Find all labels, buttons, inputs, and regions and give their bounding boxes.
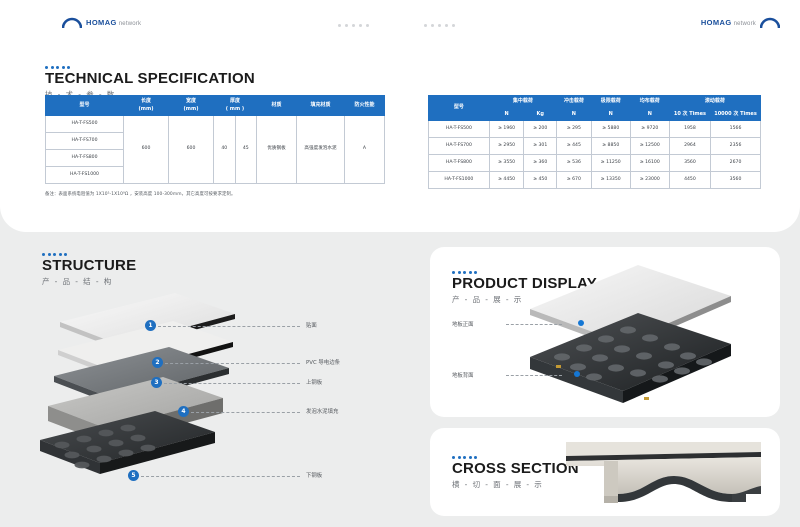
cell-value: ≥ 2950: [489, 138, 524, 155]
structure-label-3: 上钢板: [306, 378, 322, 386]
title-dots-icon: [45, 66, 255, 69]
product-display-leader-back: [506, 375, 562, 376]
callout-5: 5: [128, 470, 139, 481]
callout-4: 4: [178, 406, 189, 417]
header-dots-group-2: [424, 24, 455, 27]
structure-label-2: PVC 导电边条: [306, 358, 340, 366]
cell-value: ≥ 23000: [630, 172, 669, 189]
spec-table-right: 型号 集中载荷 冲击载荷 极限载荷 均布载荷 滚动载荷 N Kg N N N 1…: [428, 95, 761, 189]
cell-fireproof: A: [345, 116, 385, 184]
cell-model: HA-T-FS500: [46, 116, 124, 133]
cell-value: ≥ 5880: [591, 121, 630, 138]
product-display-dot-front: [578, 320, 584, 326]
product-display-label-back: 地板背面: [452, 371, 474, 379]
cell-model: HA-T-FS800: [46, 150, 124, 167]
cell-value: ≥ 9720: [630, 121, 669, 138]
th-rolling-load: 滚动载荷: [669, 96, 760, 109]
logo-right: network HOMAG: [701, 16, 780, 28]
cell-filling: 高强度发泡水泥: [297, 116, 345, 184]
cell-value: ≥ 200: [524, 121, 557, 138]
cell-value: 1566: [711, 121, 761, 138]
brochure-page: HOMAG network network HOMAG TECHNICAL SP…: [0, 0, 800, 527]
structure-exploded-diagram: [0, 288, 420, 518]
th-impact-load: 冲击载荷: [557, 96, 592, 109]
table-row: HA-T-FS700 ≥ 2950 ≥ 301 ≥ 445 ≥ 8850 ≥ 1…: [429, 138, 761, 155]
arch-logo-icon: [62, 16, 82, 28]
th-unit-n2: N: [557, 108, 592, 121]
panel-back: [530, 313, 731, 403]
leader-line-1: [158, 326, 300, 327]
cell-value: ≥ 4450: [489, 172, 524, 189]
header-dots-group-1: [338, 24, 369, 27]
cell-value: ≥ 1960: [489, 121, 524, 138]
cell-model: HA-T-FS800: [429, 155, 490, 172]
th-concentrated-load: 集中载荷: [489, 96, 556, 109]
th-material: 材质: [257, 96, 297, 116]
technical-spec-title-en: TECHNICAL SPECIFICATION: [45, 71, 255, 87]
product-display-label-front: 地板正面: [452, 320, 474, 328]
th-fireproof: 防火性能: [345, 96, 385, 116]
table-row: HA-T-FS1000 ≥ 4450 ≥ 450 ≥ 670 ≥ 13350 ≥…: [429, 172, 761, 189]
table-row: HA-T-FS500 600 600 40 45 优质钢板 高强度发泡水泥 A: [46, 116, 385, 133]
th-ultimate-load: 极限载荷: [591, 96, 630, 109]
product-display-leader-front: [506, 324, 562, 325]
th-unit-n1: N: [489, 108, 524, 121]
leader-line-2: [165, 363, 300, 364]
th-unit-kg: Kg: [524, 108, 557, 121]
cell-value: 4450: [669, 172, 710, 189]
cell-value: 2356: [711, 138, 761, 155]
cell-value: ≥ 16100: [630, 155, 669, 172]
structure-title-cn: 产 - 品 - 结 - 构: [42, 276, 136, 287]
logo-right-sub: network: [734, 21, 756, 27]
leader-line-4: [191, 412, 300, 413]
th-model: 型号: [46, 96, 124, 116]
cell-value: ≥ 13350: [591, 172, 630, 189]
th-length: 长度 (mm): [124, 96, 169, 116]
cross-section-card: CROSS SECTION 横 - 切 - 面 - 展 - 示: [430, 428, 780, 516]
logo-right-name: HOMAG: [701, 18, 732, 27]
cell-length: 600: [124, 116, 169, 184]
structure-title: STRUCTURE 产 - 品 - 结 - 构: [42, 253, 136, 287]
cell-material: 优质钢板: [257, 116, 297, 184]
cell-value: 3560: [711, 172, 761, 189]
th-model: 型号: [429, 96, 490, 121]
arch-logo-icon: [760, 16, 780, 28]
cell-thickness-1: 40: [214, 116, 236, 184]
exploded-floor-panel-illustration: [0, 288, 420, 518]
cell-value: ≥ 11250: [591, 155, 630, 172]
product-display-card: PRODUCT DISPLAY 产 - 品 - 展 - 示: [430, 247, 780, 417]
leader-line-3: [164, 383, 300, 384]
callout-2: 2: [152, 357, 163, 368]
cell-value: 1958: [669, 121, 710, 138]
cell-value: ≥ 360: [524, 155, 557, 172]
structure-label-5: 下钢板: [306, 471, 322, 479]
cell-model: HA-T-FS500: [429, 121, 490, 138]
logo-left-sub: network: [119, 21, 141, 27]
title-dots-icon: [42, 253, 136, 256]
callout-3: 3: [151, 377, 162, 388]
cross-section-illustration: [556, 436, 771, 512]
th-unit-n3: N: [591, 108, 630, 121]
cell-model: HA-T-FS700: [429, 138, 490, 155]
cell-value: ≥ 445: [557, 138, 592, 155]
product-display-dot-back: [574, 371, 580, 377]
cell-model: HA-T-FS700: [46, 133, 124, 150]
cell-value: ≥ 670: [557, 172, 592, 189]
cell-thickness-2: 45: [235, 116, 257, 184]
logo-left: HOMAG network: [62, 16, 141, 28]
cell-value: ≥ 295: [557, 121, 592, 138]
structure-label-4: 发泡水泥填充: [306, 407, 338, 415]
spec-table-left: 型号 长度 (mm) 宽度 (mm) 厚度 ( mm ) 材质: [45, 95, 385, 184]
cell-value: 2964: [669, 138, 710, 155]
structure-title-en: STRUCTURE: [42, 258, 136, 274]
page-header: HOMAG network network HOMAG: [0, 0, 800, 46]
th-unit-10000times: 10000 次 Times: [711, 108, 761, 121]
cell-model: HA-T-FS1000: [429, 172, 490, 189]
structure-label-1: 贴面: [306, 321, 317, 329]
cell-value: ≥ 3550: [489, 155, 524, 172]
table-header-row: 型号 长度 (mm) 宽度 (mm) 厚度 ( mm ) 材质: [46, 96, 385, 116]
cell-value: ≥ 450: [524, 172, 557, 189]
cell-model: HA-T-FS1000: [46, 167, 124, 184]
callout-1: 1: [145, 320, 156, 331]
floor-panel-front-back-illustration: [526, 261, 776, 413]
th-filling: 填充材质: [297, 96, 345, 116]
table-row: HA-T-FS800 ≥ 3550 ≥ 360 ≥ 536 ≥ 11250 ≥ …: [429, 155, 761, 172]
table-group-header-row: 型号 集中载荷 冲击载荷 极限载荷 均布载荷 滚动载荷: [429, 96, 761, 109]
th-unit-n4: N: [630, 108, 669, 121]
cell-value: 2670: [711, 155, 761, 172]
cell-value: ≥ 8850: [591, 138, 630, 155]
cell-value: ≥ 536: [557, 155, 592, 172]
th-width: 宽度 (mm): [169, 96, 214, 116]
cell-width: 600: [169, 116, 214, 184]
leader-line-5: [141, 476, 300, 477]
cell-value: 3560: [669, 155, 710, 172]
spec-note: 备注：表面系统电阻值为 1X10⁵-1X10⁹Ω ，安装高度 100-300mm…: [45, 191, 235, 197]
cell-value: ≥ 301: [524, 138, 557, 155]
cell-value: ≥ 12500: [630, 138, 669, 155]
th-unit-10times: 10 次 Times: [669, 108, 710, 121]
table-row: HA-T-FS500 ≥ 1960 ≥ 200 ≥ 295 ≥ 5880 ≥ 9…: [429, 121, 761, 138]
th-thickness: 厚度 ( mm ): [214, 96, 257, 116]
th-uniform-load: 均布载荷: [630, 96, 669, 109]
logo-left-name: HOMAG: [86, 18, 117, 27]
